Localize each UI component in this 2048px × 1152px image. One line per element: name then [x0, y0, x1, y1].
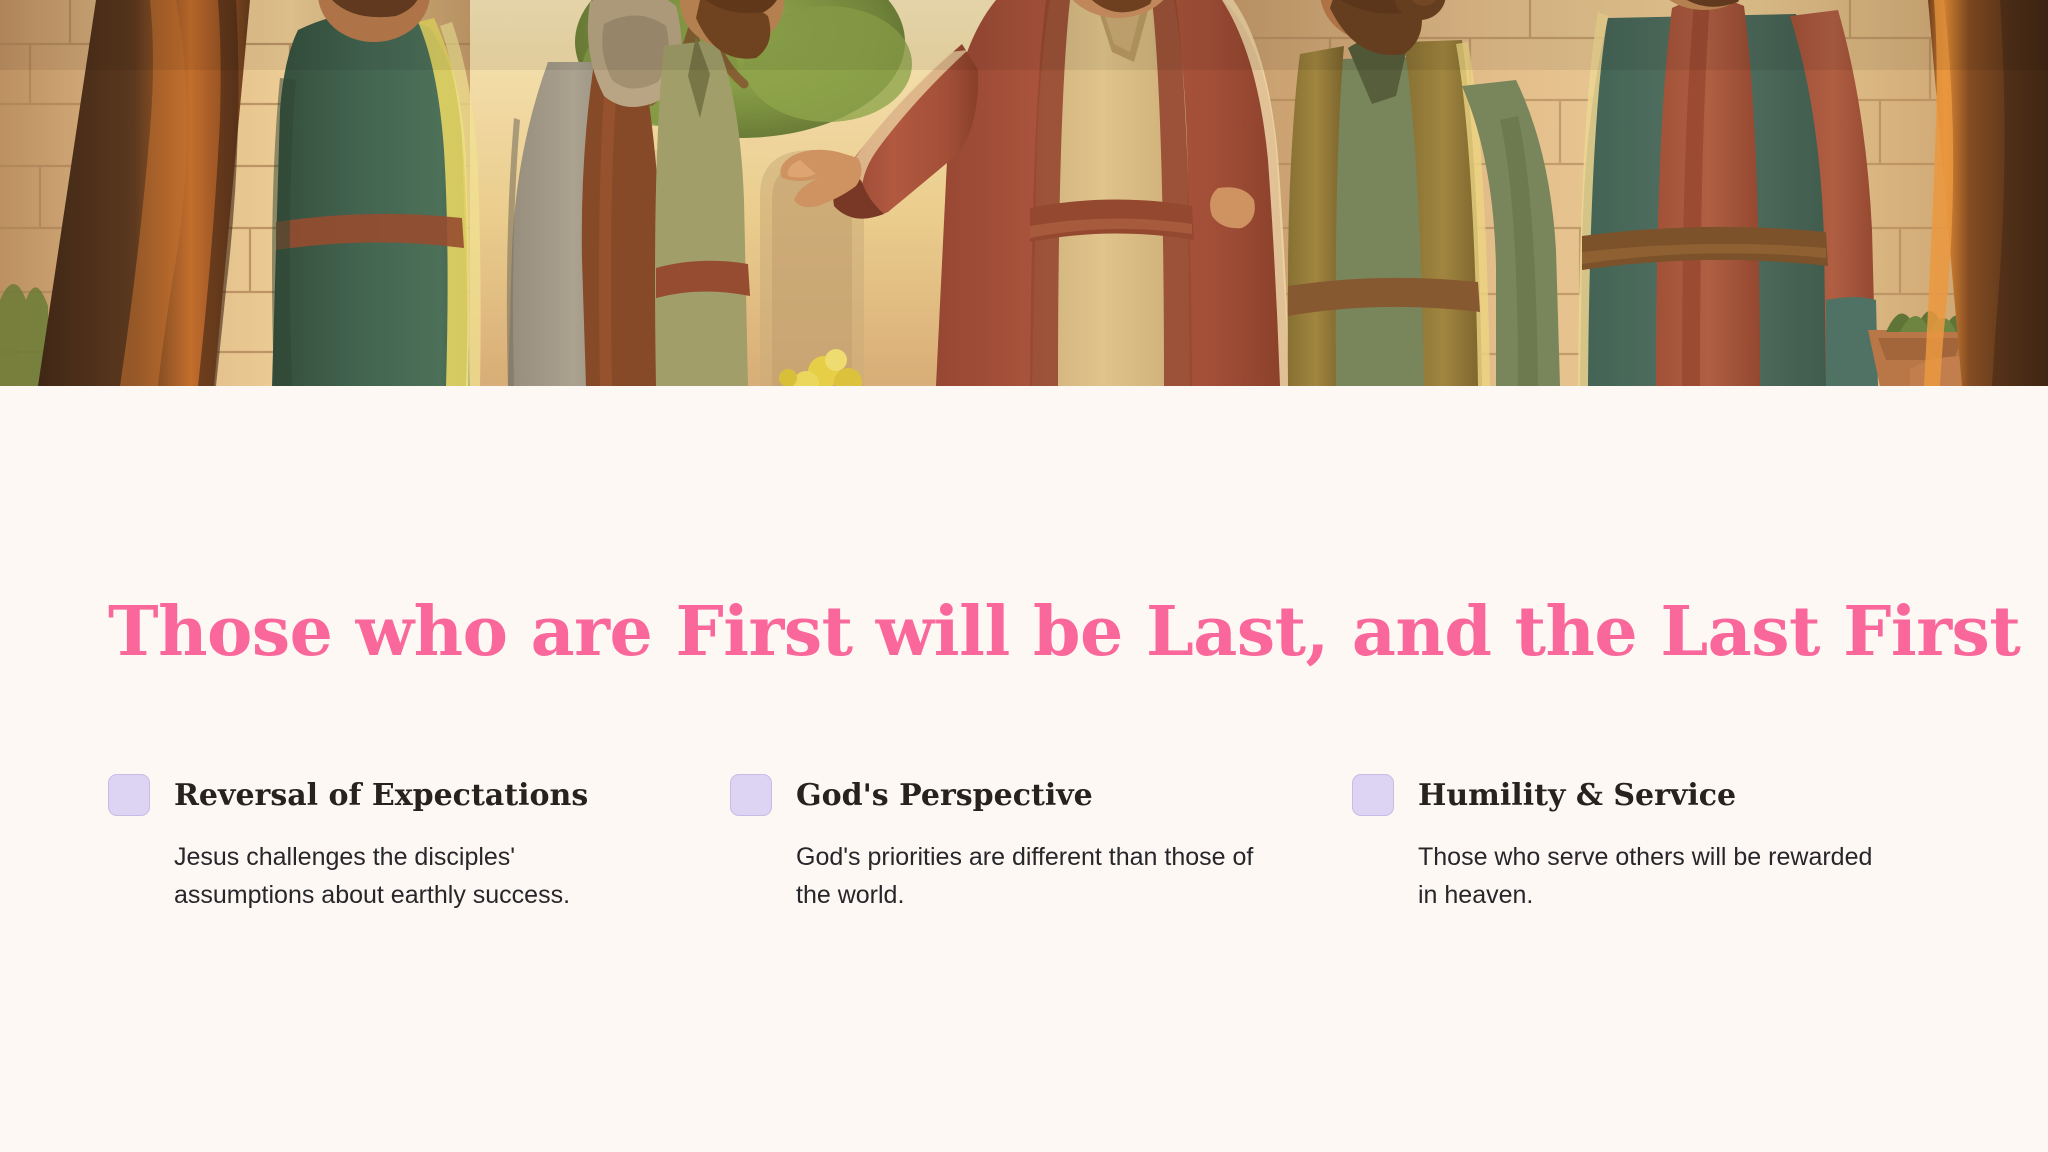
feature-item: Humility & Service Those who serve other… — [1352, 773, 1940, 914]
feature-header: God's Perspective — [730, 773, 1292, 817]
feature-description: Those who serve others will be rewarded … — [1418, 838, 1878, 914]
feature-header: Humility & Service — [1352, 773, 1880, 817]
feature-header: Reversal of Expectations — [108, 773, 670, 817]
feature-item: Reversal of Expectations Jesus challenge… — [108, 773, 730, 914]
feature-title: Reversal of Expectations — [174, 779, 588, 812]
feature-list: Reversal of Expectations Jesus challenge… — [108, 773, 1940, 914]
feature-item: God's Perspective God's priorities are d… — [730, 773, 1352, 914]
lavender-square-icon — [108, 774, 150, 816]
page-title: Those who are First will be Last, and th… — [108, 598, 2020, 666]
feature-title: Humility & Service — [1418, 779, 1736, 812]
feature-description: God's priorities are different than thos… — [796, 838, 1266, 914]
hero-illustration — [0, 0, 2048, 386]
feature-title: God's Perspective — [796, 779, 1093, 812]
feature-description: Jesus challenges the disciples' assumpti… — [174, 838, 644, 914]
lavender-square-icon — [1352, 774, 1394, 816]
lavender-square-icon — [730, 774, 772, 816]
content-section: Those who are First will be Last, and th… — [0, 386, 2048, 1152]
hero-illustration-svg — [0, 0, 2048, 386]
